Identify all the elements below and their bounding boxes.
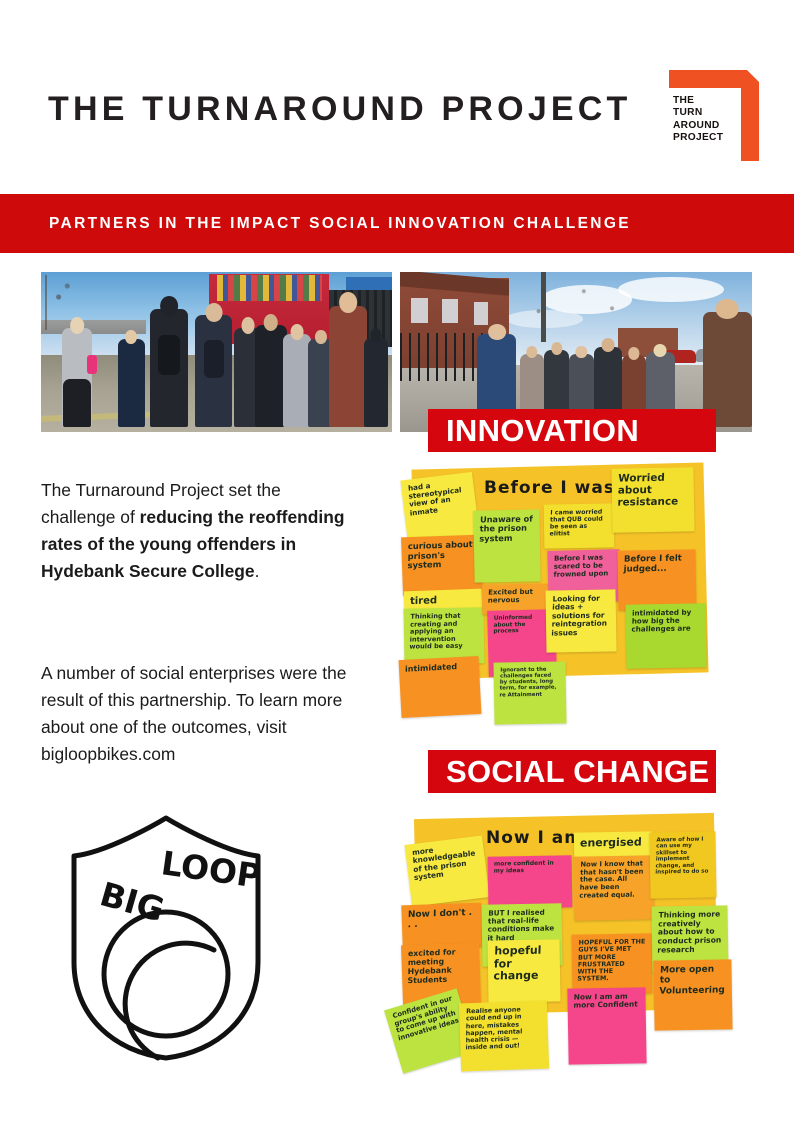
sticky-note: intimidated (399, 656, 482, 718)
challenge-paragraph: The Turnaround Project set the challenge… (41, 477, 357, 585)
page-title: THE TURNAROUND PROJECT (48, 90, 632, 129)
section-label-innovation: INNOVATION (428, 409, 716, 452)
section-label-innovation-text: INNOVATION (446, 413, 639, 449)
logo-line-1: THE (673, 95, 723, 107)
sticky-note: intimidated by how big the challenges ar… (625, 603, 706, 668)
sticky-note: Before I felt judged... (617, 549, 696, 610)
sticky-note: had a stereotypical view of an inmate (400, 472, 479, 544)
sticky-note: hopeful for change (487, 939, 560, 1002)
photo-group-outdoors (41, 272, 392, 432)
big-loop-logo: BIG LOOP (62, 812, 270, 1064)
big-loop-text-right: LOOP (159, 843, 264, 896)
sticky-note: Worried about resistance (611, 467, 694, 532)
sticky-note: Now I am am more Confident (567, 987, 646, 1064)
outcomes-paragraph: A number of social enterprises were the … (41, 660, 357, 768)
logo-line-3: AROUND (673, 120, 723, 132)
sticky-note: Looking for ideas + solutions for reinte… (545, 589, 616, 652)
turnaround-project-logo: THE TURN AROUND PROJECT (663, 68, 761, 163)
logo-line-4: PROJECT (673, 132, 723, 144)
sticky-note: more knowledgeable of the prison system (405, 835, 490, 906)
challenge-paragraph-tail: . (255, 561, 260, 581)
sticky-note: Ignorant to the challenges faced by stud… (493, 661, 566, 724)
partners-banner-text: PARTNERS IN THE IMPACT SOCIAL INNOVATION… (49, 215, 631, 233)
section-label-social-change: SOCIAL CHANGE (428, 750, 716, 793)
sticky-note: curious about prison's system (401, 535, 483, 596)
photo-group-street (400, 272, 752, 432)
social-change-sticky-board: Now I am. more knowledgeable of the pris… (388, 812, 732, 1094)
sticky-note: Now I know that that hasn't been the cas… (573, 855, 654, 920)
logo-line-2: TURN (673, 107, 723, 119)
sticky-note: Realise anyone could end up in here, mis… (459, 1000, 549, 1071)
sticky-note: HOPEFUL FOR THE GUYS I'VE MET BUT MORE F… (571, 933, 652, 994)
innovation-sticky-board: Before I was... had a stereotypical view… (396, 462, 726, 734)
section-label-social-change-text: SOCIAL CHANGE (446, 754, 709, 790)
logo-wordmark: THE TURN AROUND PROJECT (673, 95, 723, 145)
sticky-note: Unaware of the prison system (473, 509, 540, 582)
poster-header: THE TURNAROUND PROJECT THE TURN AROUND P… (0, 0, 794, 192)
poster-page: THE TURNAROUND PROJECT THE TURN AROUND P… (0, 0, 794, 1123)
sticky-note: More open to Volunteering (653, 959, 732, 1030)
sticky-note: I came worried that QUB could be seen as… (544, 503, 615, 548)
sticky-note: Aware of how I can use my skillset to im… (649, 831, 716, 898)
big-loop-text-left: BIG (96, 874, 169, 929)
sticky-note: more confident in my ideas (488, 855, 573, 908)
partners-banner: PARTNERS IN THE IMPACT SOCIAL INNOVATION… (0, 194, 794, 253)
